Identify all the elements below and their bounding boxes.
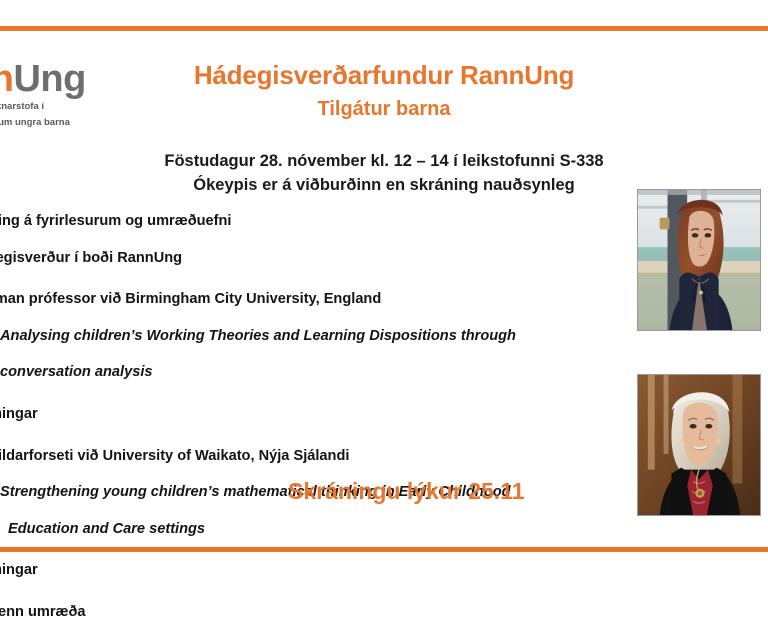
page-subtitle: Tilgátur barna — [0, 98, 768, 121]
speaker-photo-peters — [637, 374, 761, 516]
programme-list: min og kynning á fyrirlesurum og umræðue… — [0, 214, 632, 620]
event-poster: nnUng annsóknarstofa í arfræðum ungra ba… — [0, 0, 768, 576]
spacer — [0, 229, 632, 251]
programme-item: Hádegisverður í boði RannUng — [0, 251, 632, 266]
speaker-portrait-illustration — [638, 375, 760, 515]
spacer — [0, 307, 632, 329]
programme-item: ly Peters, deildarforseti við University… — [0, 449, 632, 464]
event-datetime-location: Föstudagur 28. nóvember kl. 12 – 14 í le… — [0, 150, 768, 174]
spacer — [0, 343, 632, 365]
programme-item: min og kynning á fyrirlesurum og umræðue… — [0, 214, 632, 229]
registration-deadline: Skráningu lýkur 25.11 — [288, 478, 525, 505]
speaker-photo-bateman — [637, 189, 761, 331]
spacer — [0, 578, 632, 605]
programme-item: conversation analysis — [0, 365, 632, 380]
top-accent-rule — [0, 26, 768, 31]
programme-item: manda Bateman prófessor við Birmingham C… — [0, 292, 632, 307]
programme-item: Analysing children’s Working Theories an… — [0, 329, 632, 344]
spacer — [0, 536, 632, 563]
programme-item: ður og spurningar — [0, 407, 632, 422]
speaker-portrait-illustration — [638, 190, 760, 330]
programme-item: Education and Care settings — [0, 522, 632, 537]
spacer — [0, 380, 632, 407]
spacer — [0, 265, 632, 292]
programme-item: ntekt og almenn umræða — [0, 605, 632, 620]
page-title: Hádegisverðarfundur RannUng — [0, 60, 768, 91]
spacer — [0, 422, 632, 449]
